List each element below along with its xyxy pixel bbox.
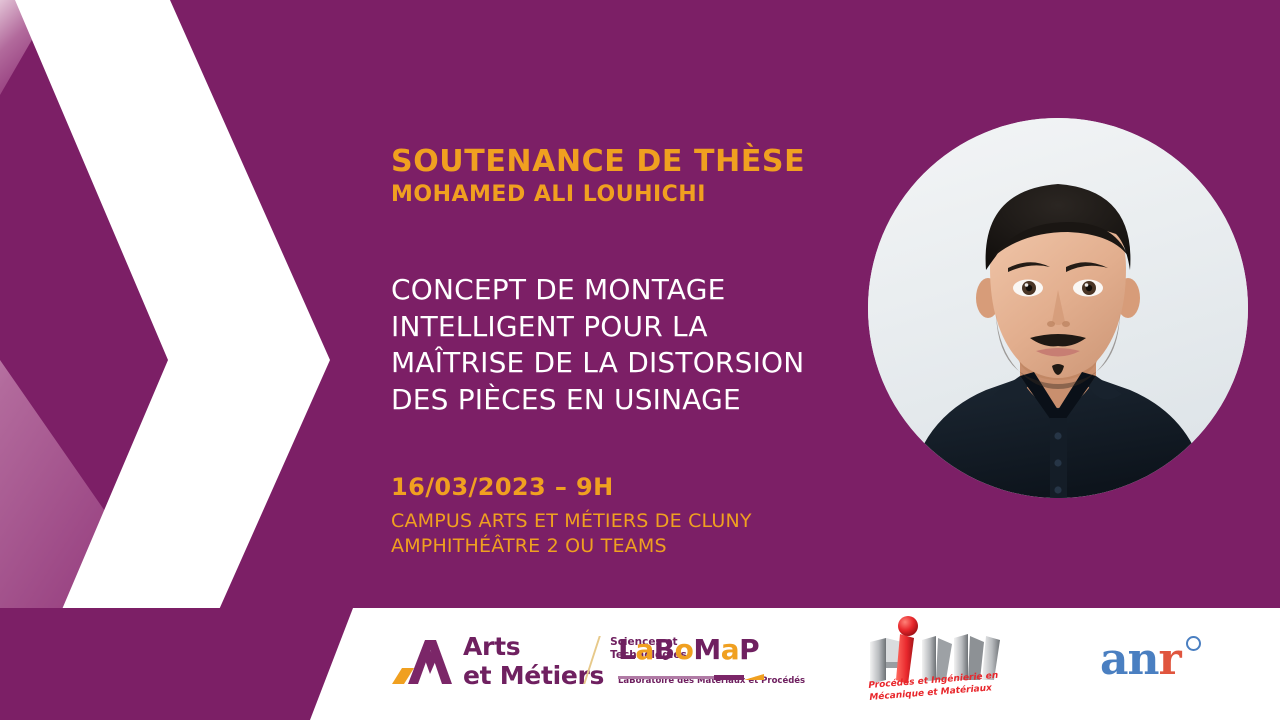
labomap-char-a1: a [635,633,653,666]
event-details: 16/03/2023 – 9H CAMPUS ARTS ET MÉTIERS D… [391,473,861,559]
labomap-char-L: L [618,633,635,666]
event-location-line: AMPHITHÉÂTRE 2 OU TEAMS [391,534,861,559]
arts-et-metiers-name: Arts et Métiers [463,634,604,688]
labomap-char-P: P [739,633,759,666]
footer-bar: Arts et Métiers Sciences et Technologies… [0,608,1280,720]
thesis-title-line: DES PIÈCES EN USINAGE [391,382,861,419]
thesis-title-line: CONCEPT DE MONTAGE [391,272,861,309]
registered-mark-icon [1186,636,1201,651]
logo-anr[interactable]: anr [1100,638,1181,682]
labomap-rule-decoration [618,666,764,673]
labomap-char-B: B [654,633,675,666]
heading-block: SOUTENANCE DE THÈSE MOHAMED ALI LOUHICHI [391,145,861,208]
anr-char-n: n [1128,634,1159,685]
labomap-char-M: M [693,633,720,666]
am-line-2: et Métiers [463,663,604,688]
poster-root: SOUTENANCE DE THÈSE MOHAMED ALI LOUHICHI… [0,0,1280,720]
labomap-wordmark: LaBoMaP [618,636,778,664]
labomap-char-o: o [675,633,694,666]
arts-et-metiers-mark-icon [392,638,454,684]
anr-wordmark: anr [1100,638,1181,682]
thesis-title-line: MAÎTRISE DE LA DISTORSION [391,345,861,382]
footer-logo-row: Arts et Métiers Sciences et Technologies… [330,608,1280,720]
thesis-title-line: INTELLIGENT POUR LA [391,309,861,346]
logo-pimm[interactable]: Procédés et Ingénierie en Mécanique et M… [860,614,1010,698]
anr-char-r: r [1159,634,1181,685]
anr-char-a: a [1100,634,1128,685]
am-line-1: Arts [463,634,604,659]
thesis-title: CONCEPT DE MONTAGE INTELLIGENT POUR LA M… [391,272,861,419]
labomap-rule-svg [618,674,764,681]
logo-labomap[interactable]: LaBoMaP LaBoratoire des Matériaux et Pro… [618,636,778,686]
thesis-kicker: SOUTENANCE DE THÈSE [391,145,861,179]
candidate-name: MOHAMED ALI LOUHICHI [391,182,861,208]
event-location-line: CAMPUS ARTS ET MÉTIERS DE CLUNY [391,509,861,534]
portrait-illustration [868,118,1248,498]
labomap-char-a2: a [721,633,739,666]
event-datetime: 16/03/2023 – 9H [391,473,861,502]
portrait-photo [868,118,1248,498]
event-location: CAMPUS ARTS ET MÉTIERS DE CLUNY AMPHITHÉ… [391,509,861,559]
